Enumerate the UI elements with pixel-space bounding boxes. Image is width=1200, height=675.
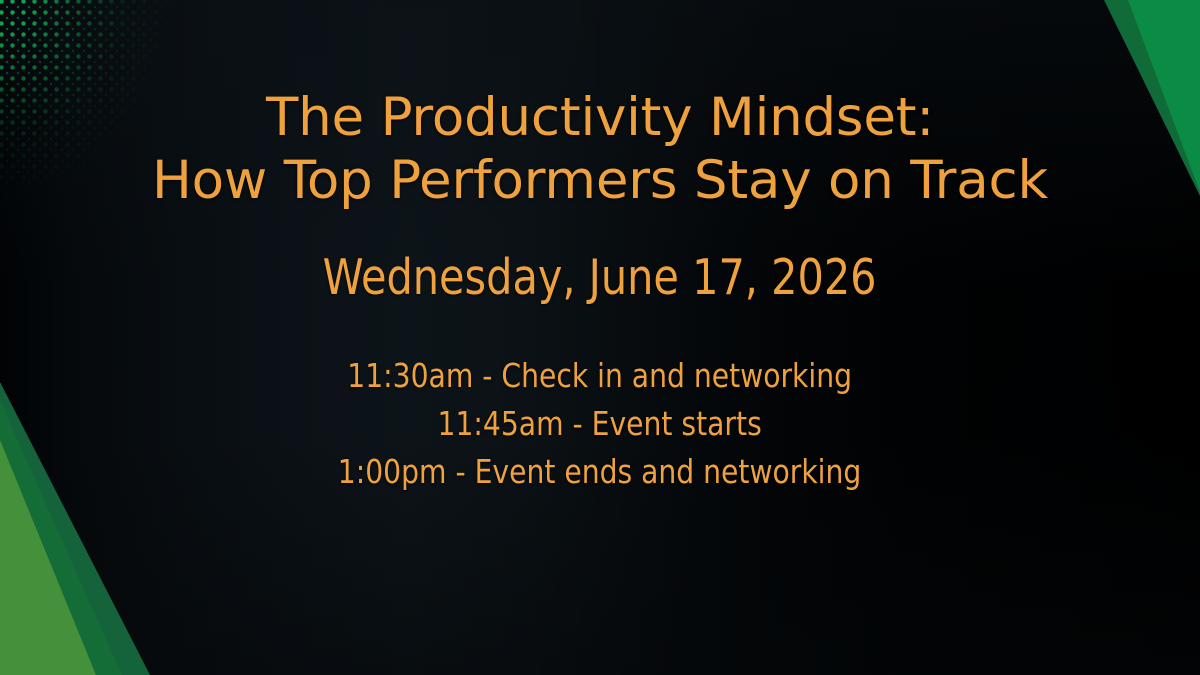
event-title-line-1: The Productivity Mindset: — [0, 88, 1200, 147]
event-schedule: 11:30am - Check in and networking 11:45a… — [0, 356, 1200, 491]
event-title-line-2: How Top Performers Stay on Track — [0, 151, 1200, 210]
banner-content: The Productivity Mindset: How Top Perfor… — [0, 0, 1200, 675]
schedule-item-event-starts: 11:45am - Event starts — [438, 404, 762, 443]
event-banner: The Productivity Mindset: How Top Perfor… — [0, 0, 1200, 675]
event-date: Wednesday, June 17, 2026 — [323, 249, 877, 306]
schedule-item-check-in: 11:30am - Check in and networking — [348, 356, 853, 395]
schedule-item-event-ends: 1:00pm - Event ends and networking — [338, 452, 862, 491]
